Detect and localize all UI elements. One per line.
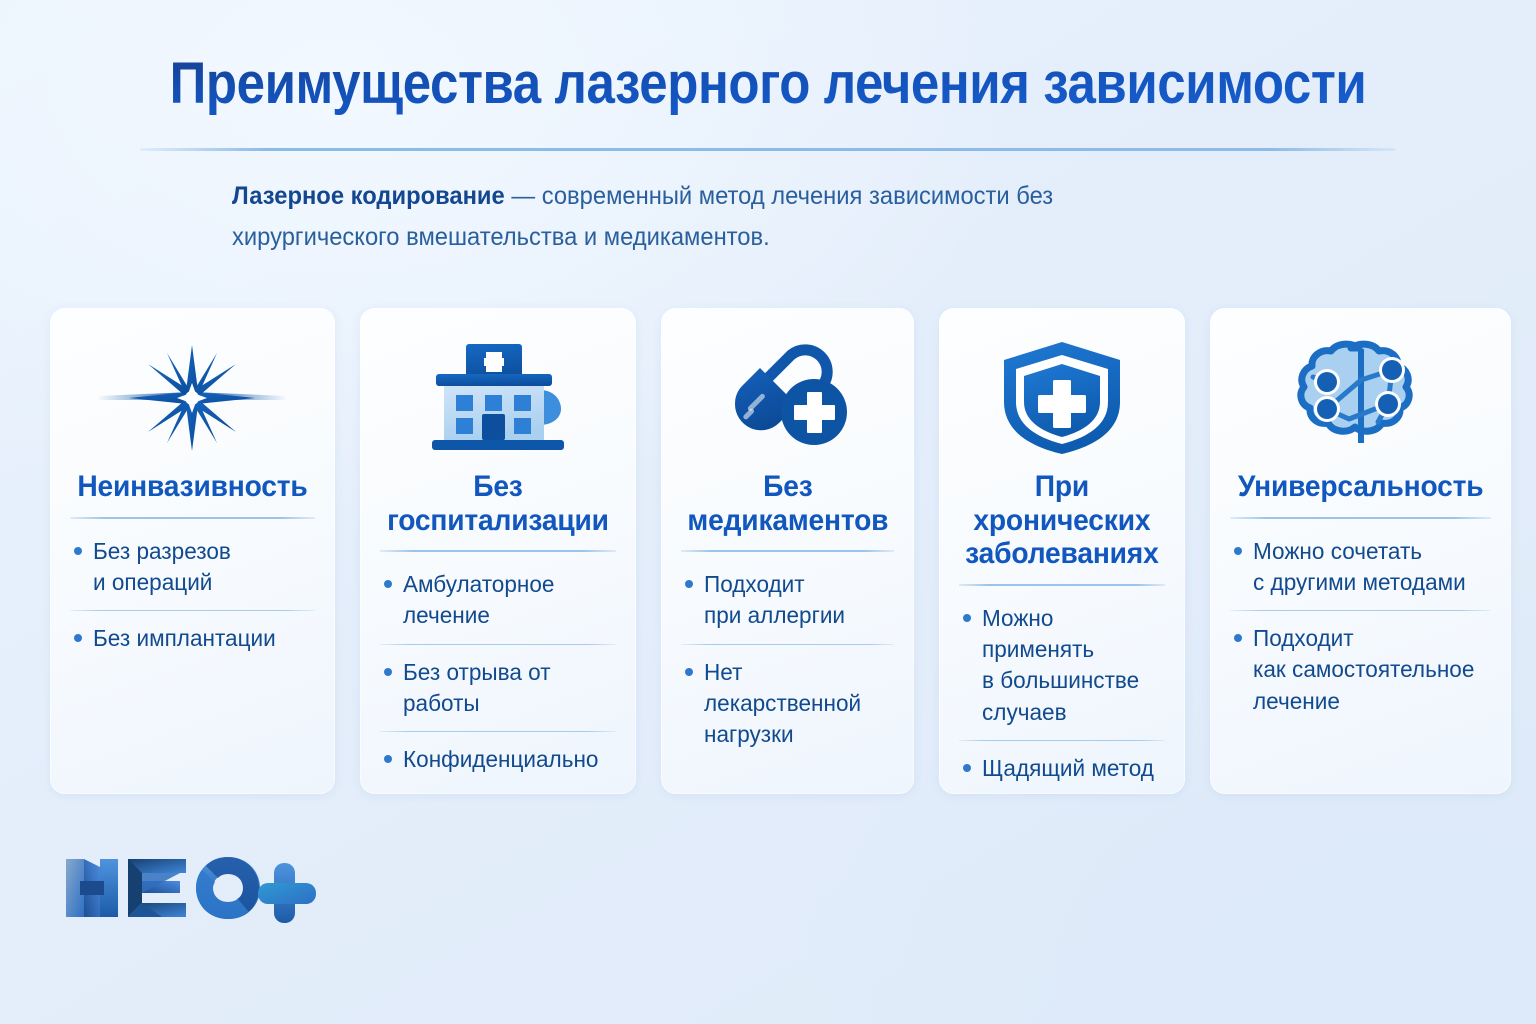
bullet-text: Без имплантации — [93, 623, 276, 654]
subtitle-lead: Лазерное кодирование — [232, 182, 505, 210]
bullet-text: Без отрыва от работы — [403, 657, 605, 720]
bullet-text: Подходит при аллергии — [704, 569, 845, 632]
pill-capsule-icon — [681, 336, 895, 460]
card-bullets: Подходит при аллергии Нет лекарственной … — [681, 564, 895, 755]
bullet-divider — [70, 610, 315, 611]
list-item: Без имплантации — [70, 618, 315, 659]
bullet-text: Без разрезов и операций — [93, 536, 231, 599]
brand-logo[interactable] — [62, 847, 332, 929]
bullet-divider — [681, 644, 895, 645]
bullet-dot-icon — [1234, 547, 1242, 555]
bullet-dot-icon — [74, 634, 82, 642]
bullet-text: Можно сочетать с другими методами — [1253, 536, 1466, 599]
page-title: Преимущества лазерного лечения зависимос… — [92, 54, 1444, 115]
card-pri-hronicheskih-zabolevaniyah[interactable]: При хронических заболеваниях Можно приме… — [939, 308, 1185, 794]
shield-cross-icon — [959, 336, 1165, 460]
bullet-text: Можно применять в большинстве случаев — [982, 603, 1156, 728]
card-title-divider — [681, 550, 895, 552]
bullet-divider — [1230, 610, 1491, 611]
list-item: Без отрыва от работы — [380, 652, 616, 725]
bullet-dot-icon — [74, 547, 82, 555]
bullet-dot-icon — [384, 755, 392, 763]
bullet-dot-icon — [963, 614, 971, 622]
list-item: Щадящий метод — [959, 748, 1165, 789]
list-item: Амбулаторное лечение — [380, 564, 616, 637]
list-item: Можно сочетать с другими методами — [1230, 531, 1491, 604]
list-item: Подходит как самостоятельное лечение — [1230, 618, 1491, 722]
card-title: При хронических заболеваниях — [966, 470, 1159, 571]
card-bullets: Амбулаторное лечение Без отрыва от работ… — [380, 564, 616, 780]
bullet-dot-icon — [963, 764, 971, 772]
bullet-divider — [380, 731, 616, 732]
card-title-divider — [70, 517, 315, 519]
subtitle-dash: — — [505, 182, 542, 210]
bullet-dot-icon — [685, 580, 693, 588]
benefit-cards: Неинвазивность Без разрезов и операций Б… — [50, 308, 1490, 794]
card-bullets: Можно применять в большинстве случаев Ща… — [959, 598, 1165, 789]
hospital-building-icon — [380, 336, 616, 460]
infographic-page: Преимущества лазерного лечения зависимос… — [0, 0, 1536, 1024]
card-bez-medikamentov[interactable]: Без медикаментов Подходит при аллергии Н… — [661, 308, 915, 794]
card-title: Без госпитализации — [387, 470, 609, 537]
card-bullets: Можно сочетать с другими методами Подход… — [1230, 531, 1491, 722]
bullet-dot-icon — [384, 668, 392, 676]
bullet-divider — [959, 740, 1165, 741]
bullet-dot-icon — [685, 668, 693, 676]
card-bullets: Без разрезов и операций Без имплантации — [70, 531, 315, 660]
bullet-text: Конфиденциально — [403, 744, 598, 775]
bullet-text: Щадящий метод — [982, 753, 1154, 784]
bullet-text: Подходит как самостоятельное лечение — [1253, 623, 1474, 717]
list-item: Можно применять в большинстве случаев — [959, 598, 1165, 733]
laser-burst-icon — [70, 336, 315, 460]
list-item: Нет лекарственной нагрузки — [681, 652, 895, 756]
subtitle: Лазерное кодирование — современный метод… — [232, 176, 1144, 257]
card-universalnost[interactable]: Универсальность Можно сочетать с другими… — [1210, 308, 1511, 794]
bullet-dot-icon — [384, 580, 392, 588]
list-item: Подходит при аллергии — [681, 564, 895, 637]
bullet-text: Нет лекарственной нагрузки — [704, 657, 885, 751]
title-divider — [140, 148, 1396, 151]
card-title: Без медикаментов — [687, 470, 888, 537]
card-title: Универсальность — [1238, 470, 1484, 504]
bullet-dot-icon — [1234, 634, 1242, 642]
card-title-divider — [1230, 517, 1491, 519]
list-item: Конфиденциально — [380, 739, 616, 780]
list-item: Без разрезов и операций — [70, 531, 315, 604]
card-title-divider — [380, 550, 616, 552]
bullet-text: Амбулаторное лечение — [403, 569, 554, 632]
brain-network-icon — [1230, 336, 1491, 460]
bullet-divider — [380, 644, 616, 645]
card-bez-gospitalizacii[interactable]: Без госпитализации Амбулаторное лечение … — [360, 308, 636, 794]
card-title-divider — [959, 584, 1165, 586]
card-neinvazivnost[interactable]: Неинвазивность Без разрезов и операций Б… — [50, 308, 335, 794]
card-title: Неинвазивность — [77, 470, 307, 504]
